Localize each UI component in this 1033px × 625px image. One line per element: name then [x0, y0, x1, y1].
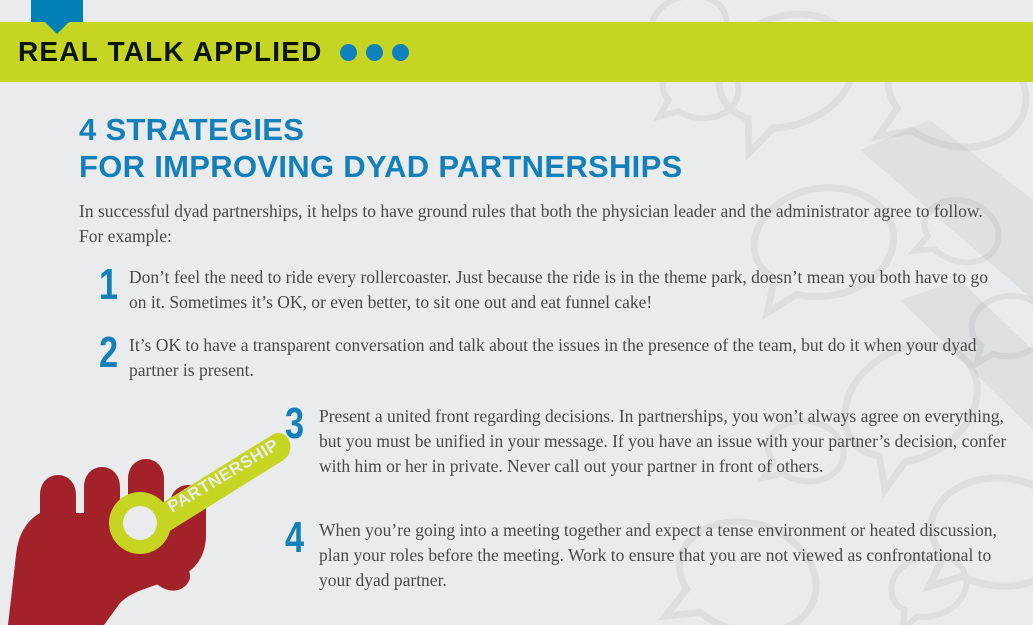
hand-icon [8, 459, 206, 625]
strategy-text: Present a united front regarding decisio… [319, 404, 1012, 479]
dot-icon [392, 44, 409, 61]
strategy-number: 1 [99, 265, 122, 305]
strategy-item: 4 When you’re going into a meeting toget… [285, 518, 1012, 593]
header-dots [340, 44, 409, 61]
key-text: PARTNERSHIP [164, 435, 282, 516]
page-title-line-1: 4 STRATEGIES [79, 112, 1009, 149]
strategy-text: When you’re going into a meeting togethe… [319, 518, 1012, 593]
hand-with-key-illustration: PARTNERSHIP [0, 395, 300, 625]
page-title: 4 STRATEGIES FOR IMPROVING DYAD PARTNERS… [79, 112, 1009, 185]
strategy-item: 3 Present a united front regarding decis… [285, 404, 1012, 479]
header-title: REAL TALK APPLIED [18, 38, 323, 66]
header: REAL TALK APPLIED [18, 22, 409, 82]
header-tab [31, 0, 83, 22]
strategy-item: 1 Don’t feel the need to ride every roll… [99, 265, 1009, 315]
dot-icon [366, 44, 383, 61]
strategy-item: 2 It’s OK to have a transparent conversa… [99, 333, 1009, 383]
dot-icon [340, 44, 357, 61]
strategy-text: It’s OK to have a transparent conversati… [129, 333, 1009, 383]
strategy-number: 2 [99, 333, 122, 373]
page-title-line-2: FOR IMPROVING DYAD PARTNERSHIPS [79, 149, 1009, 186]
intro-paragraph: In successful dyad partnerships, it help… [79, 199, 1007, 249]
infographic-page: REAL TALK APPLIED 4 STRATEGIES FOR IMPRO… [0, 0, 1033, 625]
strategy-text: Don’t feel the need to ride every roller… [129, 265, 1009, 315]
